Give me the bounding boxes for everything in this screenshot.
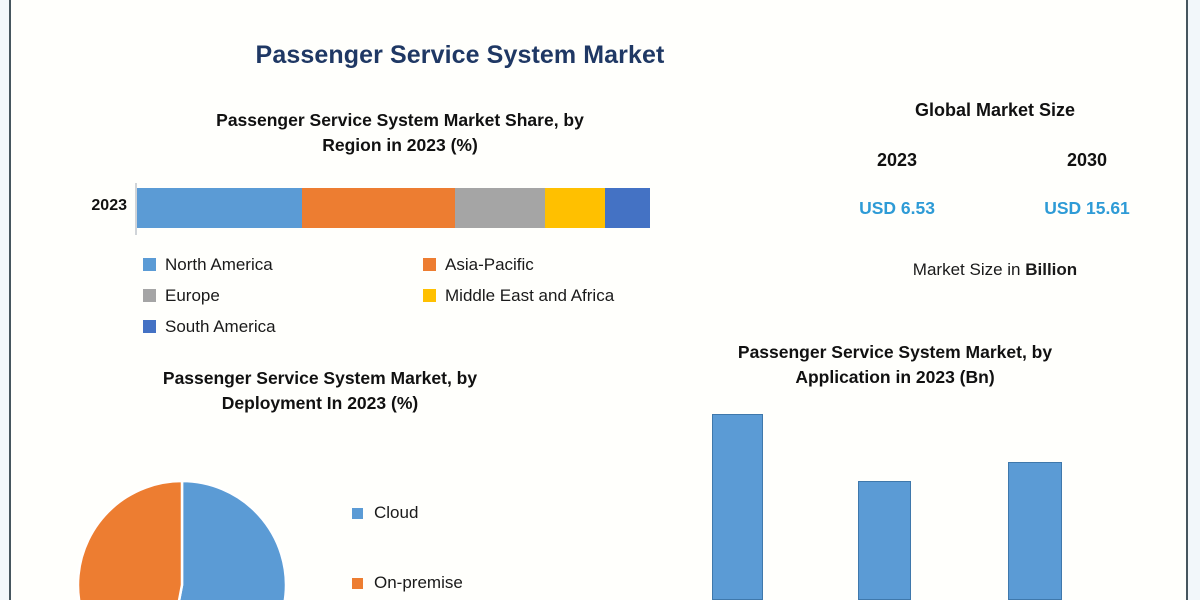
region-legend-item[interactable]: North America bbox=[143, 249, 423, 280]
global-market-size-title: Global Market Size bbox=[840, 100, 1150, 121]
region-chart-title: Passenger Service System Market Share, b… bbox=[120, 108, 680, 158]
left-frame-tint bbox=[0, 0, 9, 600]
legend-swatch-icon bbox=[352, 508, 363, 519]
legend-swatch-icon bbox=[423, 289, 436, 302]
right-frame-rule bbox=[1186, 0, 1188, 600]
deployment-legend-item[interactable]: Cloud bbox=[352, 503, 552, 573]
legend-swatch-icon bbox=[143, 289, 156, 302]
region-bar-segment bbox=[545, 188, 605, 228]
application-plot-area bbox=[660, 400, 1130, 600]
deployment-legend-label: On-premise bbox=[374, 573, 463, 593]
region-legend-item[interactable]: Europe bbox=[143, 280, 423, 311]
market-size-column-2030: 2030 USD 15.61 bbox=[1012, 150, 1162, 219]
legend-swatch-icon bbox=[143, 258, 156, 271]
application-chart-title-line2: Application in 2023 (Bn) bbox=[660, 365, 1130, 390]
deployment-chart-title-line2: Deployment In 2023 (%) bbox=[60, 391, 580, 416]
region-legend-label: South America bbox=[165, 317, 276, 337]
pie-slice bbox=[78, 481, 182, 600]
market-size-footnote: Market Size in Billion bbox=[840, 260, 1150, 280]
region-category-label: 2023 bbox=[55, 197, 127, 215]
deployment-chart-title-line1: Passenger Service System Market, by bbox=[60, 366, 580, 391]
market-size-footnote-unit: Billion bbox=[1025, 260, 1077, 279]
region-legend: North AmericaAsia-PacificEuropeMiddle Ea… bbox=[143, 249, 703, 342]
region-chart-title-line1: Passenger Service System Market Share, b… bbox=[120, 108, 680, 133]
region-stacked-bar bbox=[137, 188, 650, 228]
left-frame-rule bbox=[9, 0, 11, 600]
region-bar-segment bbox=[455, 188, 545, 228]
page-title: Passenger Service System Market bbox=[0, 41, 920, 70]
market-size-year-2030: 2030 bbox=[1012, 150, 1162, 171]
region-bar-segment bbox=[137, 188, 302, 228]
region-legend-label: Asia-Pacific bbox=[445, 255, 534, 275]
region-legend-item[interactable]: South America bbox=[143, 311, 423, 342]
market-size-value-2030: USD 15.61 bbox=[1012, 198, 1162, 219]
right-frame-tint bbox=[1188, 0, 1200, 600]
region-bar-segment bbox=[605, 188, 650, 228]
deployment-legend: CloudOn-premise bbox=[352, 503, 552, 600]
region-bar-segment bbox=[302, 188, 455, 228]
legend-swatch-icon bbox=[143, 320, 156, 333]
infographic-canvas: Passenger Service System Market Passenge… bbox=[0, 0, 1200, 600]
watermark bbox=[940, 2, 1050, 14]
region-legend-label: North America bbox=[165, 255, 273, 275]
region-legend-label: Middle East and Africa bbox=[445, 286, 614, 306]
deployment-legend-item[interactable]: On-premise bbox=[352, 573, 552, 600]
region-legend-item[interactable]: Middle East and Africa bbox=[423, 280, 703, 311]
legend-swatch-icon bbox=[352, 578, 363, 589]
application-bar bbox=[1008, 462, 1062, 600]
application-bar bbox=[858, 481, 911, 600]
region-chart-title-line2: Region in 2023 (%) bbox=[120, 133, 680, 158]
application-chart-title-line1: Passenger Service System Market, by bbox=[660, 340, 1130, 365]
deployment-pie-graphic bbox=[77, 480, 287, 600]
market-size-value-2023: USD 6.53 bbox=[822, 198, 972, 219]
deployment-legend-label: Cloud bbox=[374, 503, 418, 523]
application-chart-title: Passenger Service System Market, by Appl… bbox=[660, 340, 1130, 390]
application-bar bbox=[712, 414, 763, 600]
region-legend-label: Europe bbox=[165, 286, 220, 306]
market-size-year-2023: 2023 bbox=[822, 150, 972, 171]
market-size-footnote-prefix: Market Size in bbox=[913, 260, 1025, 279]
deployment-chart-title: Passenger Service System Market, by Depl… bbox=[60, 366, 580, 416]
region-legend-item[interactable]: Asia-Pacific bbox=[423, 249, 703, 280]
market-size-column-2023: 2023 USD 6.53 bbox=[822, 150, 972, 219]
legend-swatch-icon bbox=[423, 258, 436, 271]
